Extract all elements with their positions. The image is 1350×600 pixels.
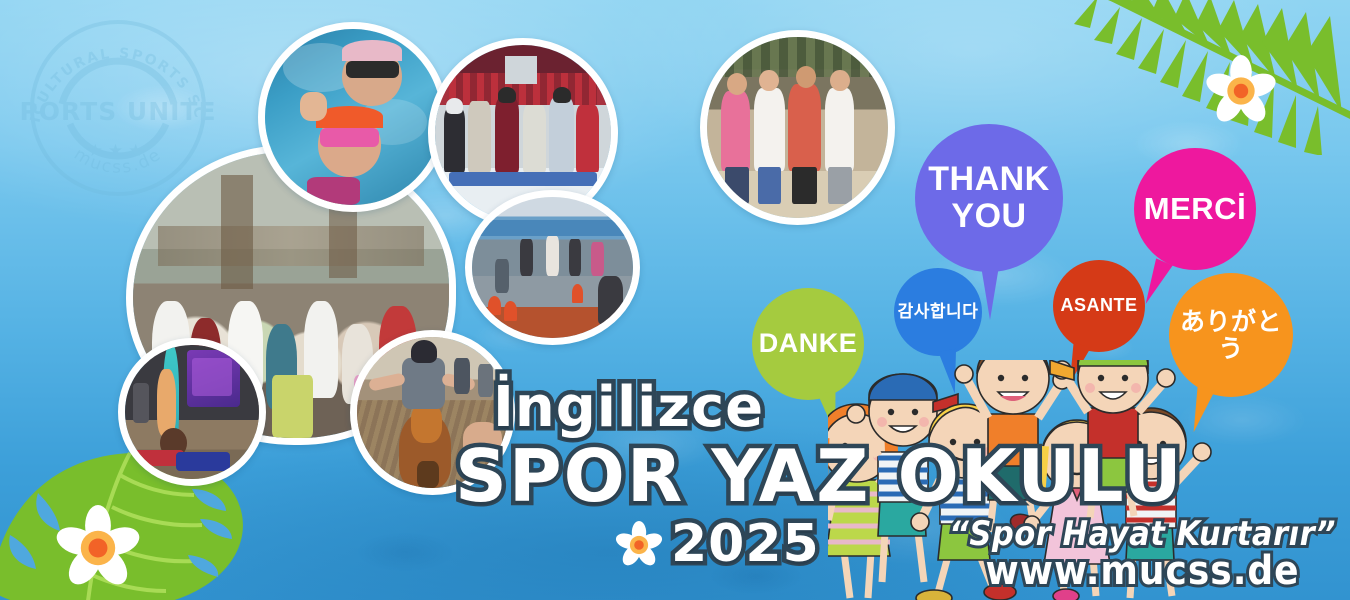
speech-bubble-label: ありがとう — [1169, 308, 1293, 362]
headline-line-1: İngilizce — [493, 375, 1095, 440]
speech-bubble-label: THANK YOU — [915, 161, 1063, 234]
plumeria-flower-icon — [1205, 55, 1277, 127]
speech-bubble-merci: MERCİ — [1134, 148, 1256, 270]
plumeria-flower-icon — [55, 505, 141, 591]
logo-center-text: SPORTS UNITES — [18, 97, 218, 126]
photo-swimming-pool — [258, 22, 448, 212]
photo-outdoor-kids-hug — [700, 30, 895, 225]
speech-bubble-label: ASANTE — [1060, 296, 1137, 315]
headline-year: 2025 — [671, 514, 820, 574]
summer-school-promo-banner: MULTICULTURAL SPORTS SCHOOL SPORTS UNITE… — [0, 0, 1350, 600]
tagline-url: www.mucss.de — [949, 548, 1336, 594]
speech-bubble-gamsahamnida: 감사합니다 — [894, 268, 982, 356]
plumeria-flower-icon — [615, 521, 663, 569]
speech-bubble-label: MERCİ — [1144, 192, 1246, 225]
headline-line-2: SPOR YAZ OKULU — [455, 434, 1095, 518]
photo-roller-skating — [465, 190, 640, 345]
tagline-block: “Spor Hayat Kurtarır” www.mucss.de — [949, 514, 1336, 594]
bubble-tail — [981, 266, 999, 320]
speech-bubble-asante: ASANTE — [1053, 260, 1145, 352]
photo-aerial-silks — [118, 338, 266, 486]
speech-bubble-thank-you: THANK YOU — [915, 124, 1063, 272]
speech-bubble-label: 감사합니다 — [898, 303, 979, 321]
speech-bubble-label: DANKE — [759, 329, 858, 358]
